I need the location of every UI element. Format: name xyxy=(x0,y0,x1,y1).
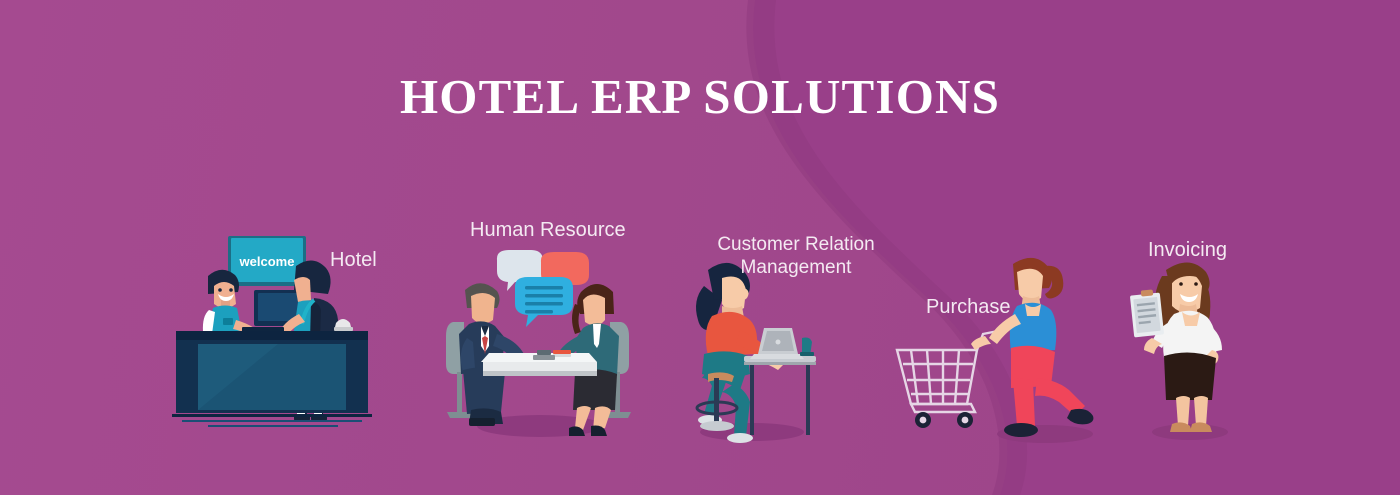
human-resource-interview-illustration xyxy=(445,250,635,440)
label-purchase: Purchase xyxy=(926,295,1011,319)
label-customer-relation-management: Customer Relation Management xyxy=(714,233,878,279)
label-human-resource: Human Resource xyxy=(470,218,626,242)
crm-laptop-illustration xyxy=(682,258,822,443)
page-title: HOTEL ERP SOLUTIONS xyxy=(0,70,1400,124)
purchase-shopping-cart-illustration xyxy=(885,252,1100,447)
invoicing-clipboard-illustration xyxy=(1130,256,1250,441)
svg-text:welcome: welcome xyxy=(239,254,295,269)
label-invoicing: Invoicing xyxy=(1148,238,1227,262)
hotel-erp-banner: HOTEL ERP SOLUTIONS welcome xyxy=(0,0,1400,495)
label-hotel: Hotel xyxy=(330,248,377,272)
